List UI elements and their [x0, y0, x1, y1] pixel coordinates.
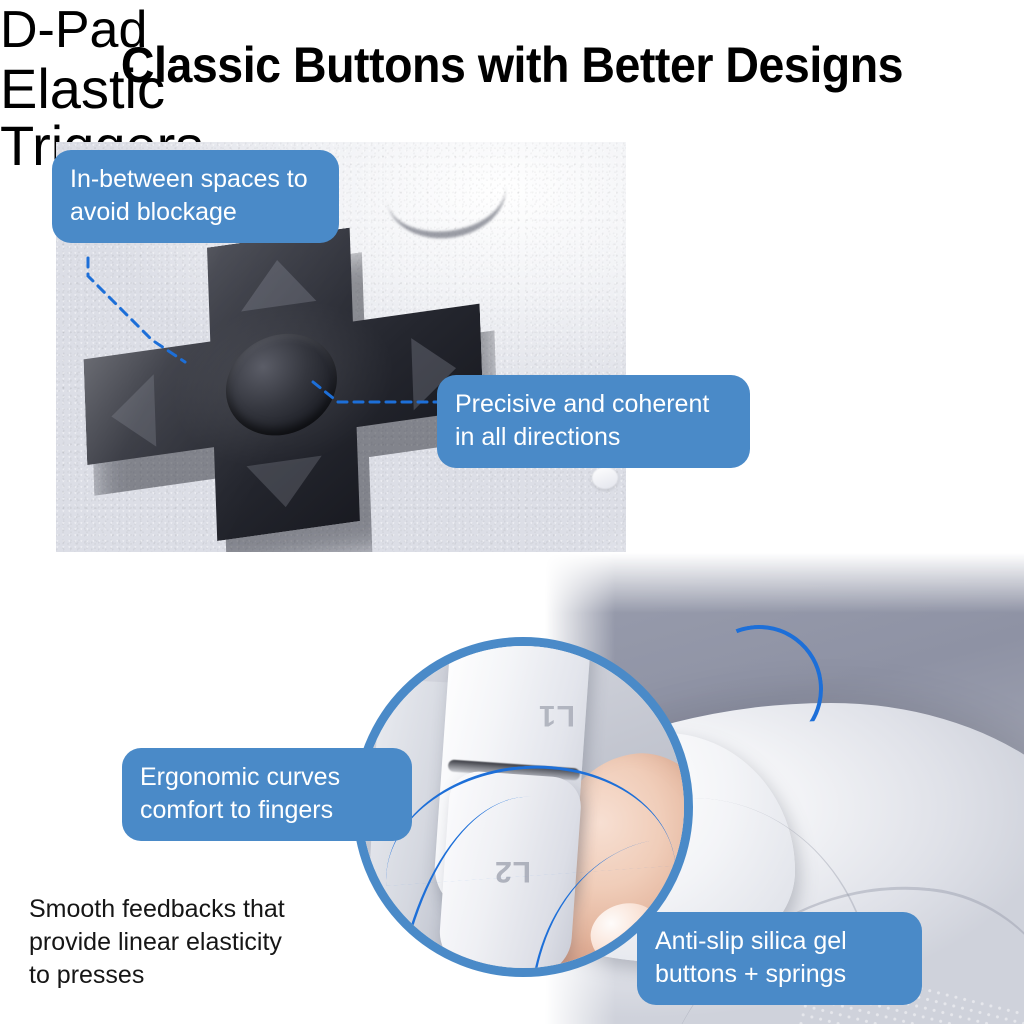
- infographic-canvas: Classic Buttons with Better Designs: [0, 0, 1024, 1024]
- callout-in-between-spaces: In-between spaces to avoid blockage: [52, 150, 339, 243]
- dpad-arrow-left-icon: [110, 374, 156, 452]
- page-title: Classic Buttons with Better Designs: [36, 36, 988, 94]
- triggers-body-text: Smooth feedbacks that provide linear ela…: [29, 893, 339, 992]
- callout-ergonomic-curves: Ergonomic curves comfort to fingers: [122, 748, 412, 841]
- callout-anti-slip-silica-gel: Anti-slip silica gel buttons + springs: [637, 912, 922, 1005]
- small-round-button-light: [592, 467, 618, 489]
- trigger-label-l1: L1: [538, 698, 575, 732]
- callout-precisive-coherent: Precisive and coherent in all directions: [437, 375, 750, 468]
